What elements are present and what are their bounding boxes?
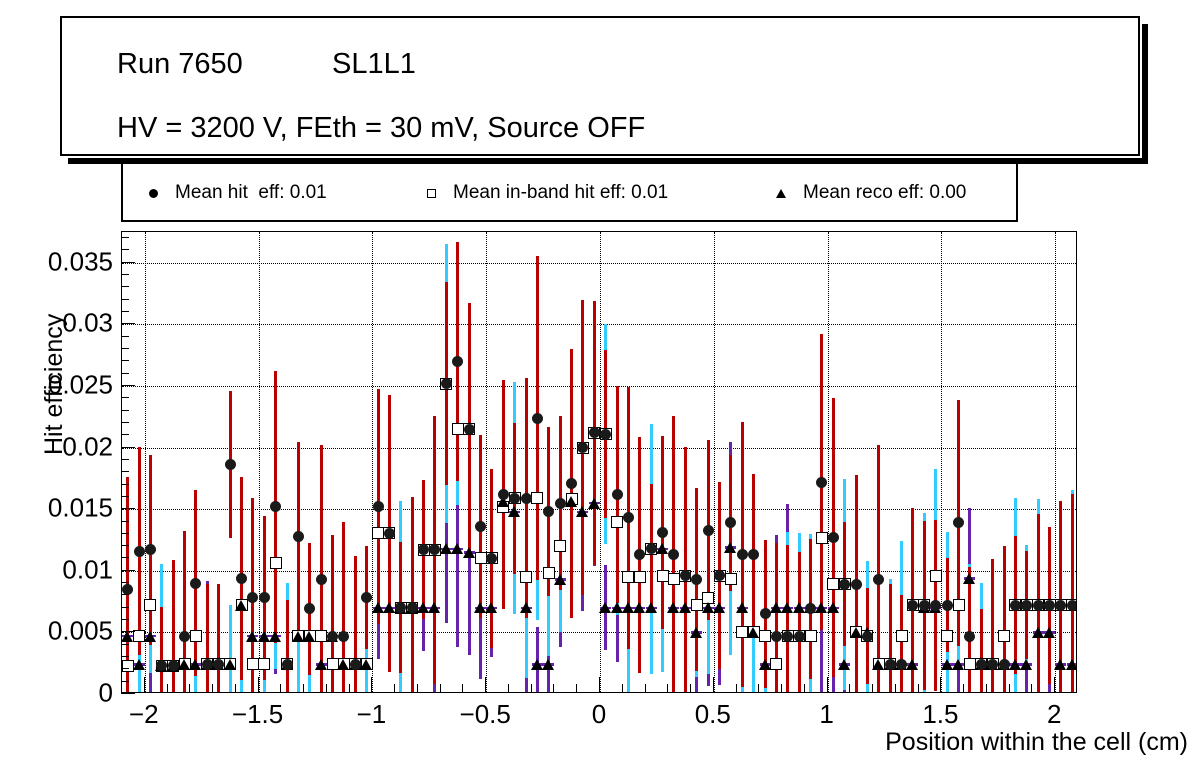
gridline-vertical (486, 232, 487, 692)
data-point-inband-hit-eff (759, 630, 771, 642)
data-point-reco-eff (1043, 627, 1055, 638)
data-point-reco-eff (554, 574, 566, 585)
data-point-hit-eff (862, 631, 873, 642)
y-axis-minor-tick (121, 668, 129, 669)
y-axis-title: Hit efficiency (40, 314, 69, 455)
data-point-hit-eff (350, 659, 361, 670)
data-point-reco-eff (941, 659, 953, 670)
plot-canvas: Run 7650 SL1L1 HV = 3200 V, FEth = 30 mV… (0, 0, 1196, 772)
data-point-hit-eff (839, 579, 850, 590)
error-bar (354, 556, 357, 692)
filled-triangle-icon (763, 164, 803, 222)
y-axis-tick (121, 262, 135, 263)
data-point-reco-eff (838, 659, 850, 670)
x-axis-minor-tick (622, 684, 623, 693)
error-bar (217, 584, 220, 692)
x-axis-tick-label: 1 (819, 699, 833, 730)
data-point-reco-eff (622, 602, 634, 613)
x-axis-tick (713, 677, 714, 693)
x-axis-minor-tick (462, 684, 463, 693)
gridline-horizontal (122, 324, 1076, 325)
data-point-inband-hit-eff (668, 573, 680, 585)
data-point-reco-eff (906, 659, 918, 670)
data-point-reco-eff (235, 600, 247, 611)
error-bar (991, 559, 994, 692)
data-point-hit-eff (293, 531, 304, 542)
gridline-vertical (145, 232, 146, 692)
data-point-reco-eff (793, 602, 805, 613)
y-axis-minor-tick (121, 360, 129, 361)
data-point-reco-eff (781, 602, 793, 613)
data-point-reco-eff (269, 631, 281, 642)
data-point-reco-eff (599, 602, 611, 613)
title-conditions-label: HV = 3200 V, FEth = 30 mV, Source OFF (117, 112, 645, 145)
data-point-reco-eff (246, 631, 258, 642)
y-axis-tick (121, 631, 135, 632)
gridline-vertical (828, 232, 829, 692)
data-point-hit-eff (509, 493, 520, 504)
data-point-hit-eff (532, 413, 543, 424)
data-point-reco-eff (576, 506, 588, 517)
x-axis-minor-tick (189, 684, 190, 693)
error-bar (411, 497, 414, 692)
title-run-label: Run 7650 (117, 48, 243, 81)
x-axis-tick (258, 677, 259, 693)
y-axis-minor-tick (121, 557, 129, 558)
data-point-hit-eff (464, 424, 475, 435)
error-bar (286, 600, 289, 692)
legend-label-inband-hit-eff: Mean in-band hit eff: 0.01 (453, 182, 668, 204)
data-point-inband-hit-eff (520, 571, 532, 583)
data-point-hit-eff (452, 356, 463, 367)
data-point-hit-eff (896, 659, 907, 670)
y-axis-tick (121, 693, 135, 694)
data-point-reco-eff (702, 602, 714, 613)
data-point-reco-eff (372, 602, 384, 613)
y-axis-minor-tick (121, 373, 129, 374)
legend-entry-reco-eff: Mean reco eff: 0.00 (763, 164, 966, 222)
x-axis-tick-label: 2 (1047, 699, 1061, 730)
x-axis-minor-tick (280, 684, 281, 693)
data-point-hit-eff (521, 493, 532, 504)
data-point-reco-eff (451, 543, 463, 554)
data-point-reco-eff (520, 602, 532, 613)
data-point-hit-eff (782, 631, 793, 642)
data-point-reco-eff (747, 627, 759, 638)
legend-entry-hit-eff: Mean hit eff: 0.01 (135, 164, 327, 222)
x-axis-minor-tick (417, 684, 418, 693)
data-point-reco-eff (827, 602, 839, 613)
x-axis-minor-tick (212, 684, 213, 693)
y-axis-minor-tick (121, 397, 129, 398)
data-point-hit-eff (748, 549, 759, 560)
data-point-reco-eff (588, 498, 600, 509)
data-point-hit-eff (282, 659, 293, 670)
x-axis-minor-tick (303, 684, 304, 693)
gridline-horizontal (122, 509, 1076, 510)
x-axis-minor-tick (781, 684, 782, 693)
data-point-inband-hit-eff (190, 630, 202, 642)
y-axis-tick (121, 570, 135, 571)
data-point-reco-eff (337, 659, 349, 670)
data-point-hit-eff (259, 592, 270, 603)
data-point-inband-hit-eff (805, 630, 817, 642)
x-axis-tick-label: −2 (129, 699, 159, 730)
y-axis-tick-label: 0.01 (3, 554, 113, 585)
x-axis-tick (371, 677, 372, 693)
y-axis-tick-label: 0.005 (3, 616, 113, 647)
data-point-reco-eff (1009, 659, 1021, 670)
gridline-vertical (714, 232, 715, 692)
data-point-reco-eff (417, 602, 429, 613)
data-point-hit-eff (407, 602, 418, 613)
x-axis-minor-tick (1009, 684, 1010, 693)
error-bar (798, 552, 801, 692)
data-point-hit-eff (725, 517, 736, 528)
data-point-reco-eff (565, 496, 577, 507)
data-point-reco-eff (485, 602, 497, 613)
data-point-reco-eff (508, 506, 520, 517)
plot-frame (121, 231, 1077, 693)
data-point-inband-hit-eff (554, 540, 566, 552)
data-point-hit-eff (338, 631, 349, 642)
x-axis-minor-tick (690, 684, 691, 693)
y-axis-minor-tick (121, 582, 129, 583)
legend-label-reco-eff: Mean reco eff: 0.00 (803, 182, 966, 204)
x-axis-minor-tick (986, 684, 987, 693)
data-point-reco-eff (770, 602, 782, 613)
error-bar (900, 595, 903, 692)
title-superlayer-label: SL1L1 (332, 48, 416, 81)
data-point-inband-hit-eff (930, 570, 942, 582)
data-point-hit-eff (919, 600, 930, 611)
data-point-reco-eff (133, 659, 145, 670)
data-point-hit-eff (828, 532, 839, 543)
data-point-hit-eff (566, 478, 577, 489)
y-axis-minor-tick (121, 533, 129, 534)
data-point-reco-eff (667, 602, 679, 613)
x-axis-minor-tick (645, 684, 646, 693)
data-point-reco-eff (645, 602, 657, 613)
y-axis-tick (121, 323, 135, 324)
data-point-hit-eff (737, 549, 748, 560)
x-axis-minor-tick (531, 684, 532, 693)
x-axis-minor-tick (326, 684, 327, 693)
data-point-hit-eff (441, 378, 452, 389)
data-point-inband-hit-eff (816, 532, 828, 544)
data-point-hit-eff (327, 631, 338, 642)
x-axis-tick-label: 0 (592, 699, 606, 730)
data-point-reco-eff (1054, 659, 1066, 670)
data-point-hit-eff (691, 574, 702, 585)
x-axis-minor-tick (758, 684, 759, 693)
gridline-vertical (1055, 232, 1056, 692)
data-point-inband-hit-eff (270, 557, 282, 569)
data-point-inband-hit-eff (998, 630, 1010, 642)
gridline-horizontal (122, 448, 1076, 449)
legend-label-hit-eff: Mean hit eff: 0.01 (175, 182, 327, 204)
x-axis-tick-label: −1.5 (232, 699, 283, 730)
y-axis-minor-tick (121, 237, 129, 238)
data-point-hit-eff (179, 631, 190, 642)
y-axis-tick (121, 508, 135, 509)
x-axis-minor-tick (872, 684, 873, 693)
y-axis-minor-tick (121, 348, 129, 349)
data-point-inband-hit-eff (247, 658, 259, 670)
x-axis-tick (599, 677, 600, 693)
data-point-inband-hit-eff (941, 630, 953, 642)
gridline-vertical (600, 232, 601, 692)
error-bar (206, 584, 209, 692)
error-bar (889, 584, 892, 692)
x-axis-tick-label: −0.5 (460, 699, 511, 730)
data-point-hit-eff (145, 544, 156, 555)
data-point-hit-eff (600, 429, 611, 440)
data-point-hit-eff (612, 489, 623, 500)
data-point-inband-hit-eff (531, 492, 543, 504)
y-axis-minor-tick (121, 484, 129, 485)
x-axis-minor-tick (963, 684, 964, 693)
y-axis-minor-tick (121, 336, 129, 337)
y-axis-minor-tick (121, 286, 129, 287)
data-point-reco-eff (713, 602, 725, 613)
x-axis-minor-tick (349, 684, 350, 693)
gridline-horizontal (122, 386, 1076, 387)
x-axis-minor-tick (667, 684, 668, 693)
gridline-horizontal (122, 263, 1076, 264)
y-axis-minor-tick (121, 422, 129, 423)
y-axis-tick (121, 385, 135, 386)
data-point-reco-eff (1032, 627, 1044, 638)
x-axis-minor-tick (895, 684, 896, 693)
data-point-hit-eff (760, 608, 771, 619)
data-point-hit-eff (373, 501, 384, 512)
y-axis-minor-tick (121, 619, 129, 620)
data-point-hit-eff (976, 659, 987, 670)
gridline-vertical (259, 232, 260, 692)
error-bar (160, 607, 163, 692)
data-point-hit-eff (816, 477, 827, 488)
data-point-inband-hit-eff (622, 571, 634, 583)
data-point-reco-eff (474, 602, 486, 613)
data-point-reco-eff (189, 659, 201, 670)
data-point-reco-eff (952, 659, 964, 670)
title-pave: Run 7650 SL1L1 HV = 3200 V, FEth = 30 mV… (60, 16, 1140, 156)
data-point-inband-hit-eff (953, 599, 965, 611)
data-point-reco-eff (963, 573, 975, 584)
data-point-inband-hit-eff (725, 573, 737, 585)
data-point-hit-eff (236, 573, 247, 584)
x-axis-title: Position within the cell (cm) (885, 728, 1188, 757)
x-axis-tick (144, 677, 145, 693)
data-point-reco-eff (315, 659, 327, 670)
x-axis-tick-label: 1.5 (922, 699, 958, 730)
x-axis-minor-tick (167, 684, 168, 693)
data-point-hit-eff (953, 517, 964, 528)
data-point-hit-eff (304, 603, 315, 614)
data-point-hit-eff (1010, 600, 1021, 611)
x-axis-tick (827, 677, 828, 693)
y-axis-tick-label: 0.015 (3, 493, 113, 524)
data-point-reco-eff (428, 602, 440, 613)
data-point-reco-eff (759, 659, 771, 670)
data-point-reco-eff (258, 631, 270, 642)
data-point-reco-eff (1020, 659, 1032, 670)
data-point-inband-hit-eff (144, 599, 156, 611)
y-axis-minor-tick (121, 434, 129, 435)
data-point-inband-hit-eff (452, 423, 464, 435)
data-point-hit-eff (680, 570, 691, 581)
x-axis-minor-tick (440, 684, 441, 693)
data-point-reco-eff (679, 602, 691, 613)
data-point-reco-eff (633, 602, 645, 613)
data-point-hit-eff (771, 631, 782, 642)
data-point-hit-eff (361, 592, 372, 603)
data-point-reco-eff (611, 602, 623, 613)
data-point-hit-eff (134, 546, 145, 557)
data-point-reco-eff (872, 659, 884, 670)
y-axis-minor-tick (121, 459, 129, 460)
y-axis-minor-tick (121, 496, 129, 497)
x-axis-minor-tick (804, 684, 805, 693)
data-point-inband-hit-eff (475, 552, 487, 564)
data-point-reco-eff (1066, 659, 1076, 670)
y-axis-minor-tick (121, 545, 129, 546)
x-axis-tick (1054, 677, 1055, 693)
gridline-vertical (941, 232, 942, 692)
error-bar (980, 609, 983, 692)
data-point-inband-hit-eff (896, 630, 908, 642)
x-axis-minor-tick (553, 684, 554, 693)
data-point-hit-eff (964, 631, 975, 642)
data-point-reco-eff (724, 542, 736, 553)
data-point-hit-eff (555, 498, 566, 509)
x-axis-minor-tick (394, 684, 395, 693)
data-point-hit-eff (247, 592, 258, 603)
data-point-hit-eff (202, 659, 213, 670)
data-point-reco-eff (292, 631, 304, 642)
legend-entry-inband-hit-eff: Mean in-band hit eff: 0.01 (413, 164, 668, 222)
y-axis-tick-label: 0.035 (3, 246, 113, 277)
data-point-reco-eff (303, 631, 315, 642)
error-bar (877, 445, 880, 692)
plot-data-area (122, 232, 1076, 692)
data-point-hit-eff (543, 506, 554, 517)
error-bar (968, 567, 971, 692)
x-axis-minor-tick (235, 684, 236, 693)
data-point-inband-hit-eff (634, 571, 646, 583)
data-point-inband-hit-eff (657, 570, 669, 582)
x-axis-tick (485, 677, 486, 693)
data-point-hit-eff (794, 631, 805, 642)
data-point-hit-eff (999, 659, 1010, 670)
y-axis-minor-tick (121, 607, 129, 608)
data-point-inband-hit-eff (827, 578, 839, 590)
open-square-icon (413, 164, 453, 222)
data-point-hit-eff (270, 501, 281, 512)
x-axis-minor-tick (849, 684, 850, 693)
error-bar (1003, 546, 1006, 692)
error-bar (172, 560, 175, 692)
data-point-hit-eff (498, 489, 509, 500)
data-point-hit-eff (930, 600, 941, 611)
error-bar (229, 605, 232, 692)
data-point-hit-eff (1044, 600, 1055, 611)
gridline-vertical (372, 232, 373, 692)
data-point-reco-eff (736, 602, 748, 613)
x-axis-tick-label: −1 (357, 699, 387, 730)
y-axis-minor-tick (121, 471, 129, 472)
data-point-hit-eff (668, 549, 679, 560)
data-point-hit-eff (646, 543, 657, 554)
data-point-reco-eff (440, 543, 452, 554)
error-bar (786, 545, 789, 692)
data-point-reco-eff (850, 627, 862, 638)
x-axis-minor-tick (1031, 684, 1032, 693)
legend: Mean hit eff: 0.01 Mean in-band hit eff:… (121, 164, 1018, 222)
x-axis-tick-label: 0.5 (695, 699, 731, 730)
x-axis-minor-tick (918, 684, 919, 693)
data-point-reco-eff (656, 543, 668, 554)
data-point-hit-eff (1021, 600, 1032, 611)
data-point-hit-eff (316, 574, 327, 585)
data-point-reco-eff (690, 627, 702, 638)
y-axis-tick-label: 0 (3, 678, 113, 709)
data-point-hit-eff (942, 600, 953, 611)
y-axis-minor-tick (121, 594, 129, 595)
y-axis-tick (121, 447, 135, 448)
x-axis-tick (940, 677, 941, 693)
data-point-reco-eff (531, 659, 543, 670)
data-point-hit-eff (987, 659, 998, 670)
data-point-reco-eff (815, 602, 827, 613)
data-point-hit-eff (703, 525, 714, 536)
data-point-hit-eff (873, 574, 884, 585)
y-axis-minor-tick (121, 311, 129, 312)
data-point-hit-eff (475, 521, 486, 532)
y-axis-minor-tick (121, 644, 129, 645)
y-axis-minor-tick (121, 410, 129, 411)
data-point-reco-eff (383, 602, 395, 613)
data-point-reco-eff (144, 631, 156, 642)
y-axis-minor-tick (121, 274, 129, 275)
filled-circle-icon (135, 164, 175, 222)
data-point-hit-eff (225, 459, 236, 470)
data-point-reco-eff (360, 659, 372, 670)
data-point-reco-eff (178, 659, 190, 670)
data-point-inband-hit-eff (372, 527, 384, 539)
data-point-inband-hit-eff (258, 658, 270, 670)
error-bar (320, 445, 323, 692)
y-axis-minor-tick (121, 656, 129, 657)
data-point-reco-eff (463, 547, 475, 558)
data-point-hit-eff (168, 660, 179, 671)
data-point-hit-eff (657, 527, 668, 538)
data-point-hit-eff (1033, 600, 1044, 611)
data-point-hit-eff (634, 549, 645, 560)
data-point-hit-eff (1067, 600, 1076, 611)
y-axis-minor-tick (121, 681, 129, 682)
data-point-reco-eff (542, 659, 554, 670)
data-point-hit-eff (851, 579, 862, 590)
data-point-inband-hit-eff (770, 658, 782, 670)
y-axis-minor-tick (121, 521, 129, 522)
data-point-hit-eff (885, 659, 896, 670)
data-point-inband-hit-eff (611, 516, 623, 528)
y-axis-minor-tick (121, 299, 129, 300)
data-point-hit-eff (190, 578, 201, 589)
data-point-hit-eff (623, 512, 634, 523)
